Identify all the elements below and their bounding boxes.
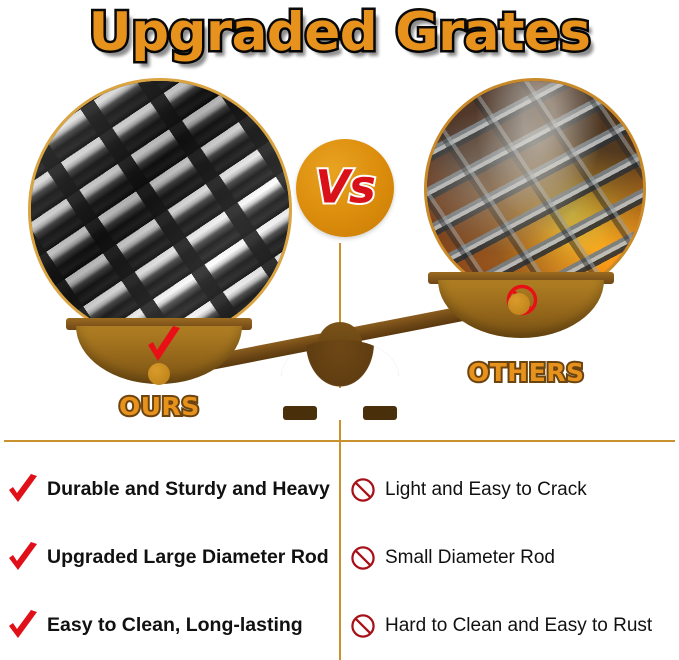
- label-ours: OURS: [119, 392, 200, 421]
- list-item: Easy to Clean, Long-lasting: [6, 592, 336, 660]
- label-others: OTHERS: [468, 358, 585, 387]
- fulcrum-right-foot: [363, 406, 397, 420]
- check-icon: [6, 541, 40, 575]
- list-item: Small Diameter Rod: [347, 524, 677, 592]
- feature-list-others: Light and Easy to Crack Small Diameter R…: [347, 456, 677, 660]
- list-item-label: Upgraded Large Diameter Rod: [47, 547, 329, 568]
- list-item-label: Light and Easy to Crack: [385, 480, 587, 501]
- list-item: Light and Easy to Crack: [347, 456, 677, 524]
- prohibited-icon: [350, 477, 376, 503]
- scale-fulcrum: [281, 322, 399, 420]
- list-item-label: Hard to Clean and Easy to Rust: [385, 616, 652, 637]
- list-item: Upgraded Large Diameter Rod: [6, 524, 336, 592]
- photo-others-grates: [424, 78, 646, 300]
- list-item: Hard to Clean and Easy to Rust: [347, 592, 677, 660]
- pan-check-icon: [144, 325, 184, 369]
- right-beam-knob: [508, 293, 530, 315]
- check-icon: [6, 473, 40, 507]
- fulcrum-left-foot: [283, 406, 317, 420]
- prohibited-icon: [350, 545, 376, 571]
- versus-label: Vs: [296, 160, 394, 213]
- infographic-canvas: Upgraded Grates Vs: [0, 0, 679, 660]
- list-item-label: Small Diameter Rod: [385, 548, 555, 569]
- list-item: Durable and Sturdy and Heavy: [6, 456, 336, 524]
- versus-badge: Vs: [296, 139, 394, 237]
- feature-list-ours: Durable and Sturdy and Heavy Upgraded La…: [6, 456, 336, 660]
- list-item-label: Easy to Clean, Long-lasting: [47, 615, 303, 636]
- left-beam-knob: [148, 363, 170, 385]
- prohibited-icon: [350, 613, 376, 639]
- photo-ours-grates: [28, 78, 292, 342]
- photo-sheen-overlay: [31, 81, 289, 339]
- page-title: Upgraded Grates: [0, 2, 679, 63]
- check-icon: [6, 609, 40, 643]
- vertical-divider: [339, 243, 341, 660]
- list-item-label: Durable and Sturdy and Heavy: [47, 479, 330, 500]
- horizontal-divider: [4, 440, 675, 442]
- ash-overlay: [427, 81, 643, 297]
